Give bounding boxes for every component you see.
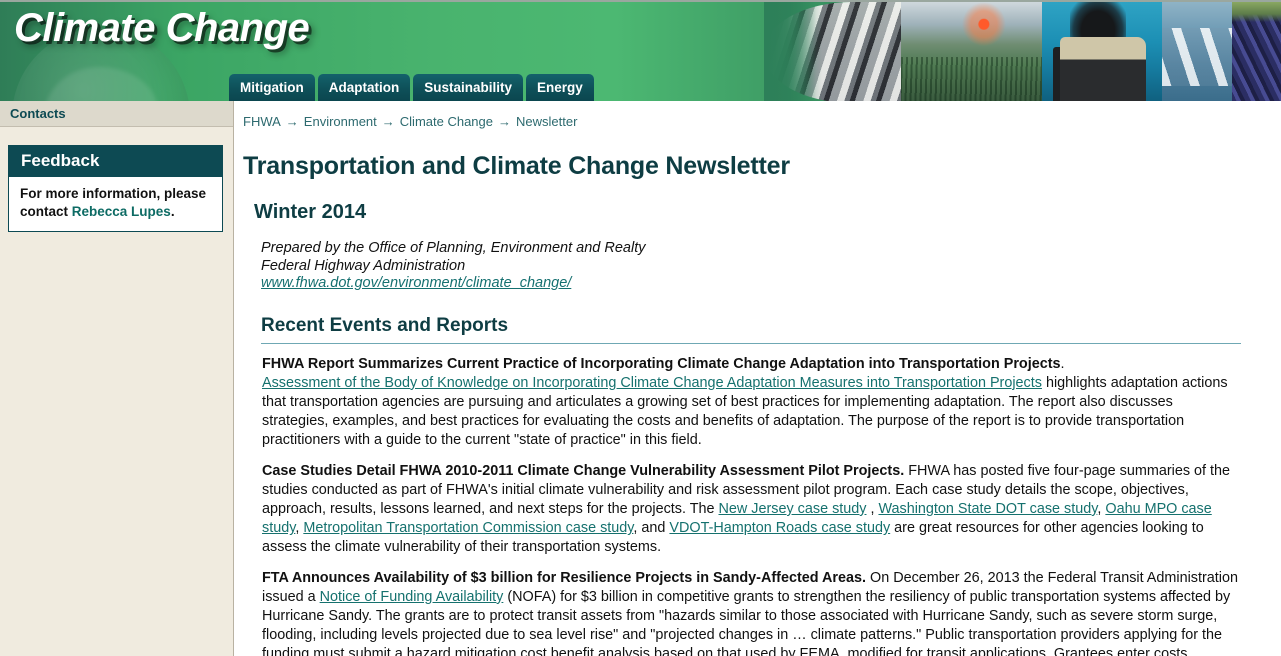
article-lead: FHWA Report Summarizes Current Practice … (262, 356, 1061, 372)
feedback-box: Feedback For more information, please co… (8, 145, 223, 232)
section-divider (261, 343, 1241, 344)
prepared-by-line-1: Prepared by the Office of Planning, Envi… (261, 240, 1259, 258)
feedback-body: For more information, please contact Reb… (9, 177, 222, 231)
main-content: FHWA→Environment→Climate Change→Newslett… (234, 101, 1281, 656)
article-lead-suffix: . (1061, 356, 1065, 372)
sidebar-section-contacts[interactable]: Contacts (0, 101, 233, 127)
article-lead: Case Studies Detail FHWA 2010-2011 Clima… (262, 463, 904, 479)
breadcrumb: FHWA→Environment→Climate Change→Newslett… (243, 111, 1259, 131)
article-link-vdot-hampton-roads-case-study[interactable]: VDOT-Hampton Roads case study (669, 520, 890, 536)
page-title: Transportation and Climate Change Newsle… (243, 152, 1259, 181)
newsletter-url-link[interactable]: www.fhwa.dot.gov/environment/climate_cha… (261, 275, 571, 291)
breadcrumb-item-climate-change[interactable]: Climate Change (400, 114, 493, 129)
prepared-by-line-2: Federal Highway Administration (261, 258, 1259, 276)
section-heading-recent-events: Recent Events and Reports (261, 315, 1259, 337)
prepared-by-block: Prepared by the Office of Planning, Envi… (261, 240, 1259, 293)
article-body: , (866, 501, 878, 517)
main-navigation: Mitigation Adaptation Sustainability Ene… (229, 74, 594, 101)
breadcrumb-item-environment[interactable]: Environment (304, 114, 377, 129)
diesel-truck-photo (1042, 2, 1170, 101)
tab-adaptation[interactable]: Adaptation (318, 74, 411, 101)
banner-photo-collage (764, 2, 1281, 101)
collage-fade-overlay (764, 2, 822, 101)
article-fhwa-report-summary: FHWA Report Summarizes Current Practice … (262, 355, 1241, 451)
tab-sustainability[interactable]: Sustainability (413, 74, 523, 101)
banner-title: Climate Change (14, 6, 309, 51)
sidebar: Contacts Feedback For more information, … (0, 101, 234, 656)
contact-link-rebecca-lupes[interactable]: Rebecca Lupes (72, 204, 171, 219)
article-link-notice-of-funding-availability[interactable]: Notice of Funding Availability (320, 589, 504, 605)
arrow-right-icon: → (281, 114, 304, 129)
tab-energy[interactable]: Energy (526, 74, 594, 101)
issue-title: Winter 2014 (254, 201, 1259, 224)
solar-panels-photo (1232, 2, 1281, 101)
tab-mitigation[interactable]: Mitigation (229, 74, 315, 101)
article-lead: FTA Announces Availability of $3 billion… (262, 570, 866, 586)
article-fta-resilience-funding: FTA Announces Availability of $3 billion… (262, 569, 1241, 656)
site-banner: Climate Change Mitigation Adaptation Sus… (0, 0, 1281, 101)
arrow-right-icon: → (493, 114, 516, 129)
article-case-studies-pilot-projects: Case Studies Detail FHWA 2010-2011 Clima… (262, 462, 1241, 558)
article-body: , and (633, 520, 669, 536)
feedback-heading: Feedback (9, 146, 222, 177)
breadcrumb-item-fhwa[interactable]: FHWA (243, 114, 281, 129)
breadcrumb-item-newsletter[interactable]: Newsletter (516, 114, 577, 129)
arrow-right-icon: → (377, 114, 400, 129)
article-link-metropolitan-transportation-commission-case-study[interactable]: Metropolitan Transportation Commission c… (303, 520, 633, 536)
article-link-washington-state-dot-case-study[interactable]: Washington State DOT case study (878, 501, 1097, 517)
article-link-new-jersey-case-study[interactable]: New Jersey case study (719, 501, 867, 517)
wetland-sunset-photo (901, 2, 1049, 101)
page-body: Contacts Feedback For more information, … (0, 101, 1281, 656)
article-link-assessment-body-of-knowledge[interactable]: Assessment of the Body of Knowledge on I… (262, 375, 1042, 391)
feedback-text-after: . (171, 204, 175, 219)
